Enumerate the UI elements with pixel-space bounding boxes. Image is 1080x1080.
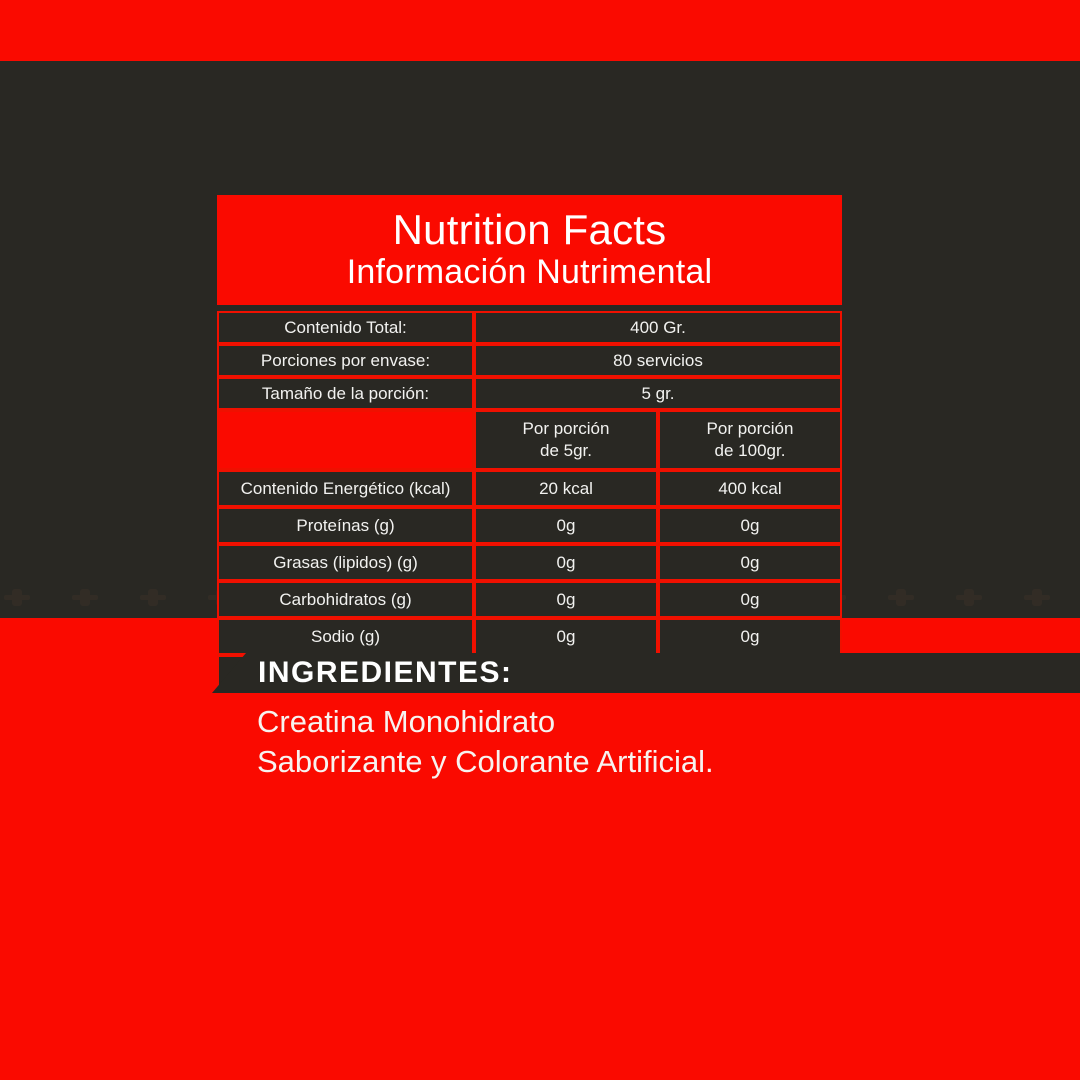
row-value-per-100g: 0g (658, 581, 842, 618)
table-row: Proteínas (g) 0g 0g (217, 507, 842, 544)
table-row: Sodio (g) 0g 0g (217, 618, 842, 655)
row-value-per-100g: 400 kcal (658, 470, 842, 507)
row-value-per-serving: 20 kcal (474, 470, 658, 507)
nutrition-facts-header: Nutrition Facts Información Nutrimental (217, 195, 842, 305)
row-value: 80 servicios (474, 344, 842, 377)
row-label: Sodio (g) (217, 618, 474, 655)
ingredient-line: Saborizante y Colorante Artificial. (257, 742, 1057, 782)
row-value-per-serving: 0g (474, 507, 658, 544)
row-value-per-serving: 0g (474, 618, 658, 655)
ingredients-heading: INGREDIENTES: (258, 653, 513, 693)
header-per-100g-line2: de 100gr. (715, 441, 786, 460)
ingredients-banner: INGREDIENTES: (212, 653, 1080, 693)
row-label: Carbohidratos (g) (217, 581, 474, 618)
emblem-watermark-icon (140, 587, 166, 609)
ingredients-list: Creatina Monohidrato Saborizante y Color… (257, 702, 1057, 781)
row-label: Porciones por envase: (217, 344, 474, 377)
row-value-per-100g: 0g (658, 507, 842, 544)
header-blank-cell (217, 410, 474, 470)
emblem-watermark-icon (4, 587, 30, 609)
emblem-watermark-icon (1024, 587, 1050, 609)
header-per-serving-line2: de 5gr. (540, 441, 592, 460)
row-value-per-serving: 0g (474, 544, 658, 581)
header-per-100g-line1: Por porción (707, 419, 794, 438)
table-header-row: Por porción de 5gr. Por porción de 100gr… (217, 410, 842, 470)
table-row: Tamaño de la porción: 5 gr. (217, 377, 842, 410)
table-row: Grasas (lipidos) (g) 0g 0g (217, 544, 842, 581)
row-value-per-100g: 0g (658, 544, 842, 581)
top-red-band (0, 0, 1080, 59)
row-label: Proteínas (g) (217, 507, 474, 544)
row-label: Tamaño de la porción: (217, 377, 474, 410)
nutrition-facts-subtitle: Información Nutrimental (347, 252, 713, 292)
nutrition-facts-table: Contenido Total: 400 Gr. Porciones por e… (217, 311, 842, 692)
header-per-serving-line1: Por porción (523, 419, 610, 438)
ingredient-line: Creatina Monohidrato (257, 702, 1057, 742)
emblem-watermark-icon (956, 587, 982, 609)
row-value: 400 Gr. (474, 311, 842, 344)
row-label: Contenido Total: (217, 311, 474, 344)
table-row: Contenido Total: 400 Gr. (217, 311, 842, 344)
row-label: Grasas (lipidos) (g) (217, 544, 474, 581)
table-row: Contenido Energético (kcal) 20 kcal 400 … (217, 470, 842, 507)
table-row: Carbohidratos (g) 0g 0g (217, 581, 842, 618)
row-value-per-serving: 0g (474, 581, 658, 618)
header-per-100g: Por porción de 100gr. (658, 410, 842, 470)
emblem-watermark-icon (72, 587, 98, 609)
row-value: 5 gr. (474, 377, 842, 410)
emblem-watermark-icon (888, 587, 914, 609)
row-value-per-100g: 0g (658, 618, 842, 655)
row-label: Contenido Energético (kcal) (217, 470, 474, 507)
nutrition-facts-title: Nutrition Facts (393, 208, 667, 253)
table-row: Porciones por envase: 80 servicios (217, 344, 842, 377)
header-per-serving: Por porción de 5gr. (474, 410, 658, 470)
